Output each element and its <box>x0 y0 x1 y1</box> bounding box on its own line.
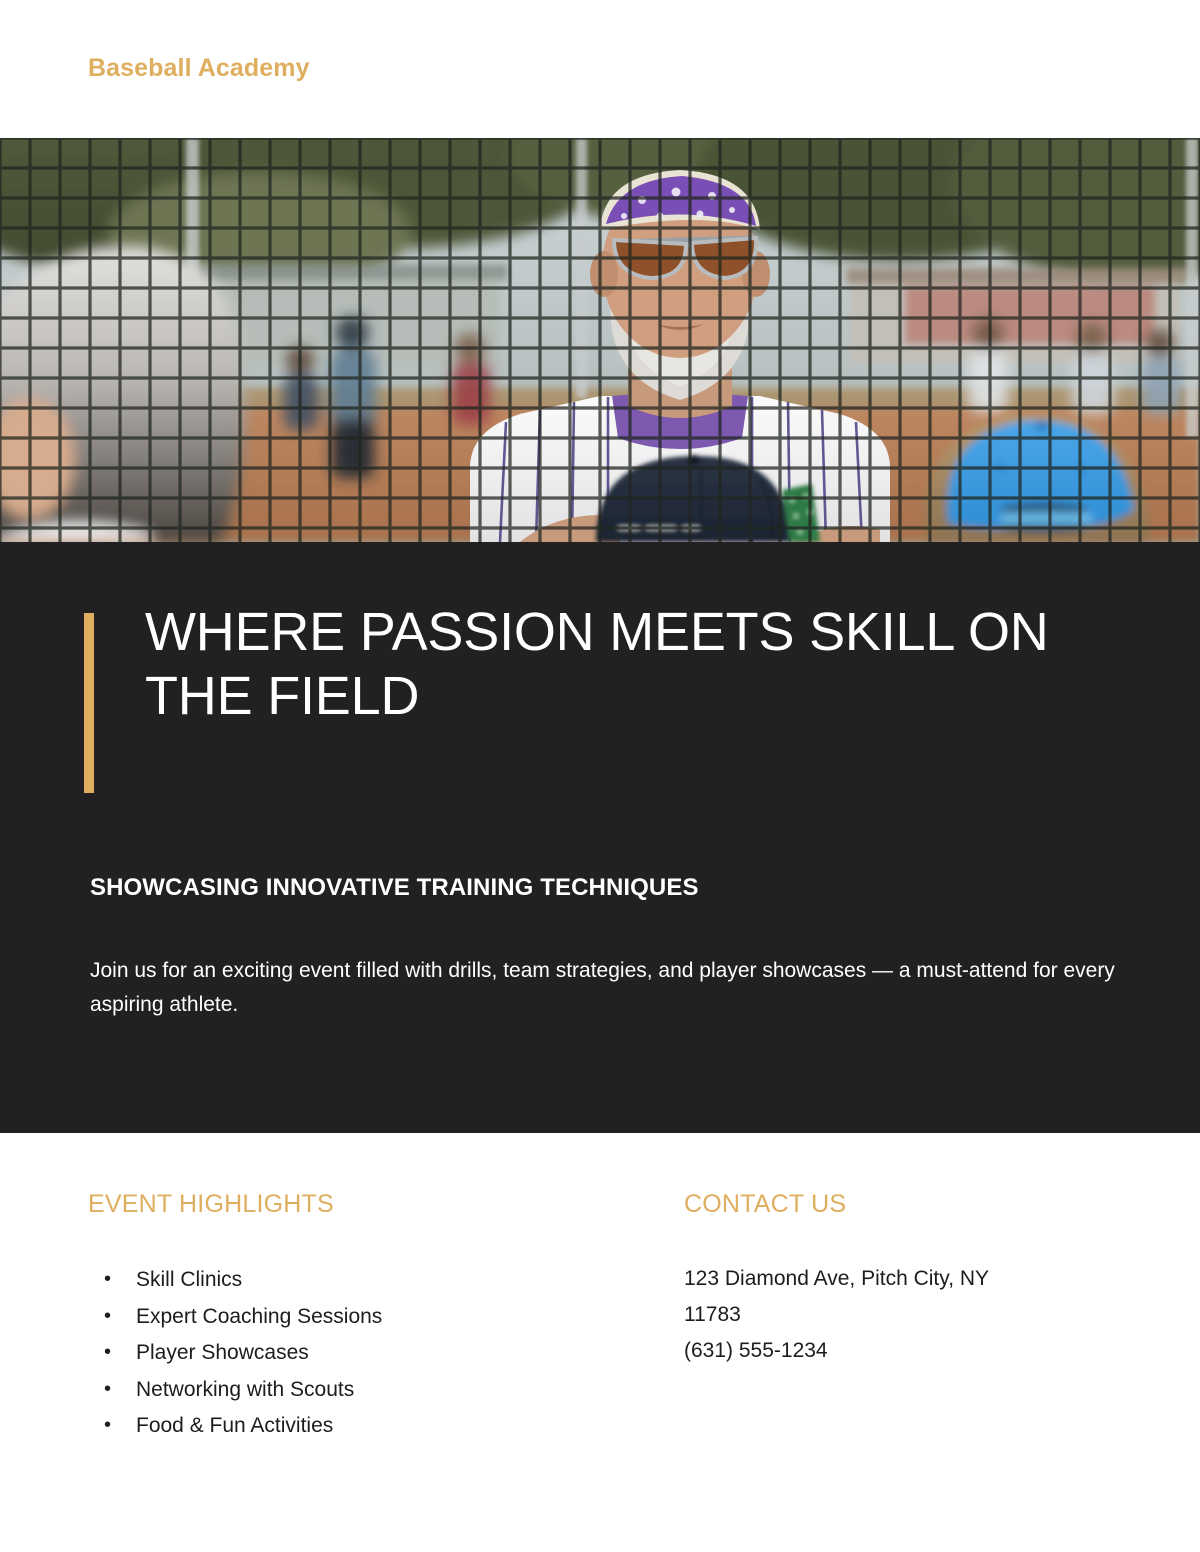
contact-title: Contact Us <box>684 1190 1124 1219</box>
list-item-label: Skill Clinics <box>136 1262 648 1299</box>
brand-header: Baseball Academy <box>0 0 1200 138</box>
contact-address-line-1: 123 Diamond Ave, Pitch City, NY <box>684 1261 1124 1297</box>
coach-behind-backstop-photo <box>0 138 1200 542</box>
contact-address-line-2: 11783 <box>684 1297 1124 1333</box>
event-highlights-list: • Skill Clinics • Expert Coaching Sessio… <box>88 1262 648 1445</box>
page-title: Where Passion Meets Skill on the Field <box>145 600 1095 729</box>
subheading: Showcasing Innovative Training Technique… <box>90 874 1110 902</box>
contact-details: 123 Diamond Ave, Pitch City, NY 11783 (6… <box>684 1261 1124 1369</box>
list-item-label: Player Showcases <box>136 1335 648 1372</box>
bullet-icon: • <box>88 1335 136 1370</box>
bullet-icon: • <box>88 1299 136 1334</box>
hero-photo <box>0 138 1200 542</box>
bullet-icon: • <box>88 1372 136 1407</box>
list-item: • Food & Fun Activities <box>88 1408 648 1445</box>
contact-column: Contact Us 123 Diamond Ave, Pitch City, … <box>684 1190 1124 1369</box>
event-highlights-column: Event Highlights • Skill Clinics • Exper… <box>88 1190 648 1445</box>
list-item: • Skill Clinics <box>88 1262 648 1299</box>
list-item: • Networking with Scouts <box>88 1372 648 1409</box>
brand-name: Baseball Academy <box>88 54 310 83</box>
event-highlights-title: Event Highlights <box>88 1190 648 1219</box>
flyer-page: Baseball Academy <box>0 0 1200 1552</box>
info-section: Event Highlights • Skill Clinics • Exper… <box>0 1133 1200 1552</box>
list-item: • Expert Coaching Sessions <box>88 1299 648 1336</box>
hero-message-panel: Where Passion Meets Skill on the Field S… <box>0 542 1200 1133</box>
contact-phone[interactable]: (631) 555-1234 <box>684 1333 1124 1369</box>
list-item-label: Food & Fun Activities <box>136 1408 648 1445</box>
bullet-icon: • <box>88 1262 136 1297</box>
list-item: • Player Showcases <box>88 1335 648 1372</box>
list-item-label: Expert Coaching Sessions <box>136 1299 648 1336</box>
body-copy: Join us for an exciting event filled wit… <box>90 954 1125 1022</box>
headline-accent-bar <box>84 613 94 793</box>
bullet-icon: • <box>88 1408 136 1443</box>
list-item-label: Networking with Scouts <box>136 1372 648 1409</box>
